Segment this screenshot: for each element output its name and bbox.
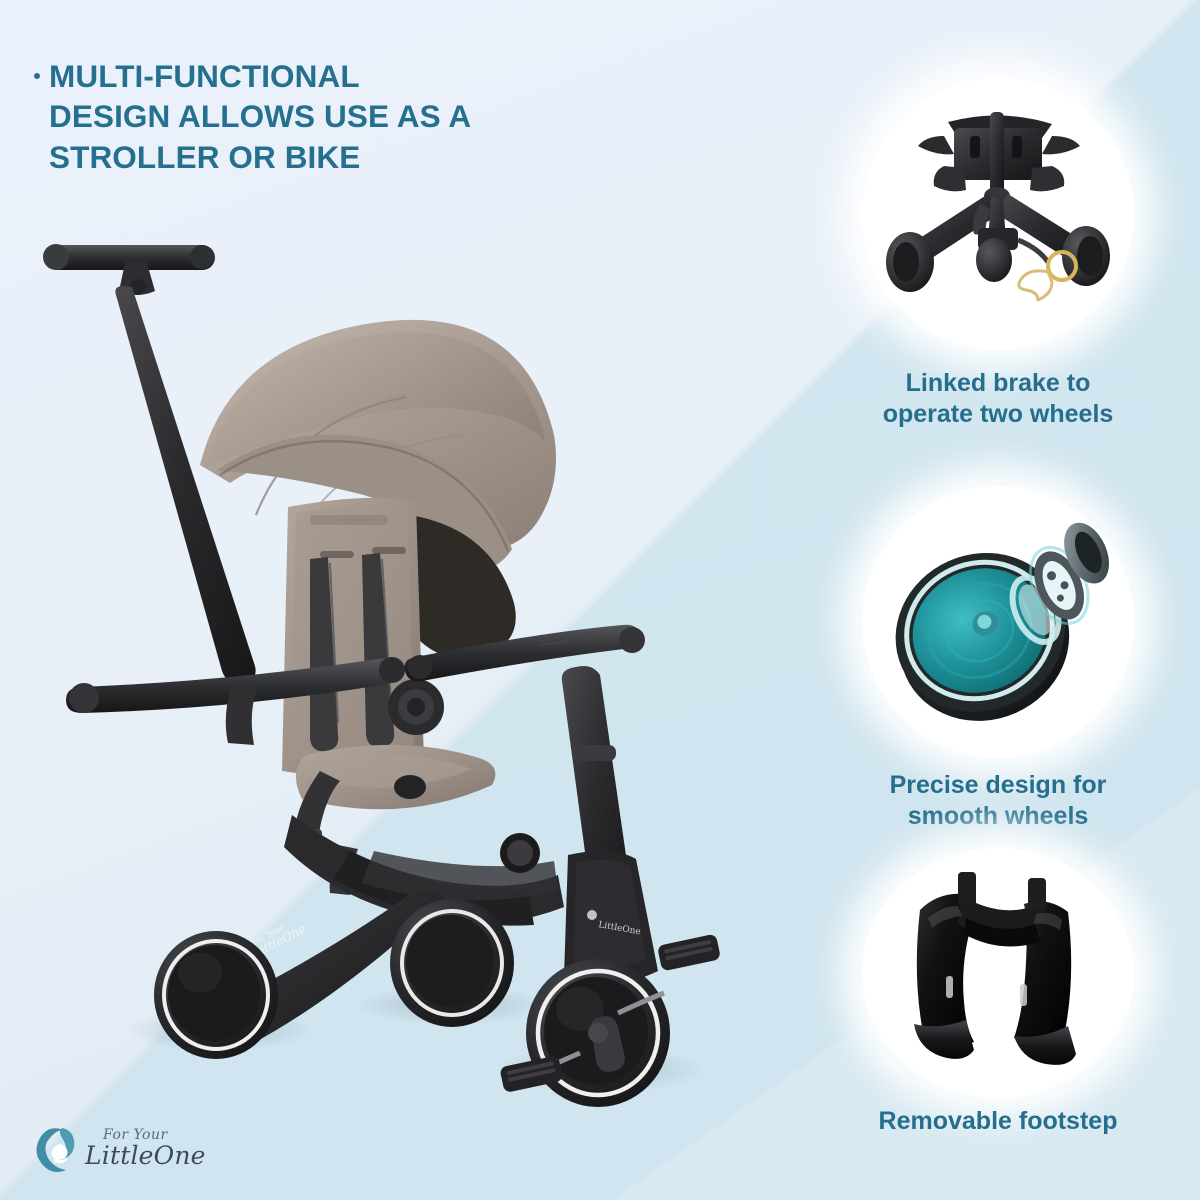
feature-image-precise-wheels: Precise design for smooth wheels [862, 486, 1134, 758]
logo-line-1: For Your [103, 1128, 206, 1142]
bullet-icon [34, 73, 40, 79]
headline-text: MULTI-FUNCTIONAL DESIGN ALLOWS USE AS A … [49, 56, 471, 177]
brand-logo: For Your LittleOne [34, 1108, 234, 1188]
feature-caption-linked-brake: Linked brake to operate two wheels [828, 368, 1168, 430]
feature-caption-removable-footstep: Removable footstep [828, 1106, 1168, 1137]
feature-image-removable-footstep: Removable footstep [862, 848, 1134, 1098]
feature-image-linked-brake: Linked brake to operate two wheels [862, 78, 1134, 350]
mother-and-child-icon [34, 1124, 78, 1172]
logo-line-2: LittleOne [85, 1143, 206, 1168]
feature-caption-precise-wheels: Precise design for smooth wheels [828, 770, 1168, 832]
infographic-canvas: MULTI-FUNCTIONAL DESIGN ALLOWS USE AS A … [0, 0, 1200, 1200]
headline: MULTI-FUNCTIONAL DESIGN ALLOWS USE AS A … [34, 56, 654, 177]
product-image: LittleOne For Your LittleO [20, 215, 720, 1115]
